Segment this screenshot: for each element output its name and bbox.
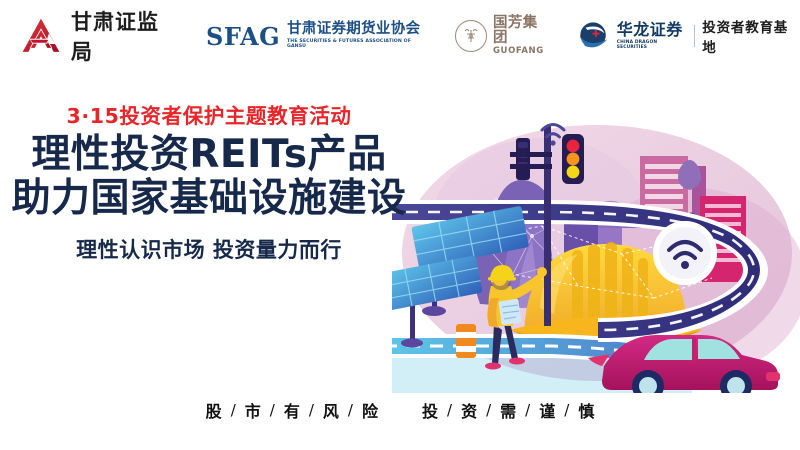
logo-sfag-label-cn: 甘肃证券期货业协会 xyxy=(287,22,425,38)
csrc-triangle-knot-icon xyxy=(20,16,62,56)
headline-subtitle: 理性认识市场 投资量力而行 xyxy=(0,234,418,264)
logo-dragon-base-label: 投资者教育基地 xyxy=(702,16,800,56)
slogan-separator: / xyxy=(231,401,236,419)
slogan-separator: / xyxy=(447,401,452,419)
slogan-separator: / xyxy=(564,401,569,419)
logo-china-dragon-securities: 华龙证券 CHINA DRAGON SECURITIES 投资者教育基地 xyxy=(577,16,800,56)
footer-slogan: 股 / 市 / 有 / 风 / 险 投 / 资 / 需 / 谨 / 慎 xyxy=(0,398,800,422)
slogan-char: 慎 xyxy=(578,398,594,422)
slogan-char: 资 xyxy=(461,398,477,422)
slogan-group-risk: 股 / 市 / 有 / 风 / 险 xyxy=(206,398,378,422)
logo-dragon-label-en: CHINA DRAGON SECURITIES xyxy=(617,40,688,51)
logo-csrc-label: 甘肃证监局 xyxy=(71,6,178,66)
logo-csrc-gansu: 甘肃证监局 xyxy=(20,6,178,66)
slogan-separator: / xyxy=(309,401,314,419)
slogan-char: 股 xyxy=(206,398,222,422)
slogan-separator: / xyxy=(525,401,530,419)
logo-sfag-label-en: THE SECURITIES & FUTURES ASSOCIATION OF … xyxy=(287,39,428,51)
smart-infrastructure-illustration xyxy=(392,108,800,393)
guofang-circle-emblem-icon xyxy=(455,20,487,52)
campaign-kicker: 3·15投资者保护主题教育活动 xyxy=(0,104,418,130)
slogan-separator: / xyxy=(486,401,491,419)
dragon-wave-circle-icon xyxy=(577,21,611,51)
headline-line-2: 助力国家基础设施建设 xyxy=(0,176,418,222)
slogan-separator: / xyxy=(270,401,275,419)
slogan-char: 需 xyxy=(500,398,516,422)
slogan-separator: / xyxy=(348,401,353,419)
headline-line-1: 理性投资REITs产品 xyxy=(0,132,418,178)
logo-guofang-label-en: GUOFANG xyxy=(493,47,551,56)
logo-dragon-label-cn: 华龙证券 xyxy=(617,22,688,39)
slogan-char: 市 xyxy=(245,398,261,422)
slogan-group-caution: 投 / 资 / 需 / 谨 / 慎 xyxy=(422,398,594,422)
headline-block: 3·15投资者保护主题教育活动 理性投资REITs产品 助力国家基础设施建设 理… xyxy=(0,104,418,264)
logo-guofang: 国芳集团 GUOFANG xyxy=(455,16,551,57)
slogan-char: 风 xyxy=(323,398,339,422)
slogan-char: 投 xyxy=(422,398,438,422)
sponsor-logo-bar: 甘肃证监局 SFAG 甘肃证券期货业协会 THE SECURITIES & FU… xyxy=(0,0,800,72)
logo-divider xyxy=(694,25,695,47)
logo-sfag: SFAG 甘肃证券期货业协会 THE SECURITIES & FUTURES … xyxy=(206,22,425,51)
slogan-char: 谨 xyxy=(539,398,555,422)
slogan-char: 险 xyxy=(362,398,378,422)
logo-guofang-label-cn: 国芳集团 xyxy=(493,16,551,46)
slogan-char: 有 xyxy=(284,398,300,422)
logo-sfag-abbr: SFAG xyxy=(206,22,280,51)
poster-canvas: 甘肃证监局 SFAG 甘肃证券期货业协会 THE SECURITIES & FU… xyxy=(0,0,800,450)
